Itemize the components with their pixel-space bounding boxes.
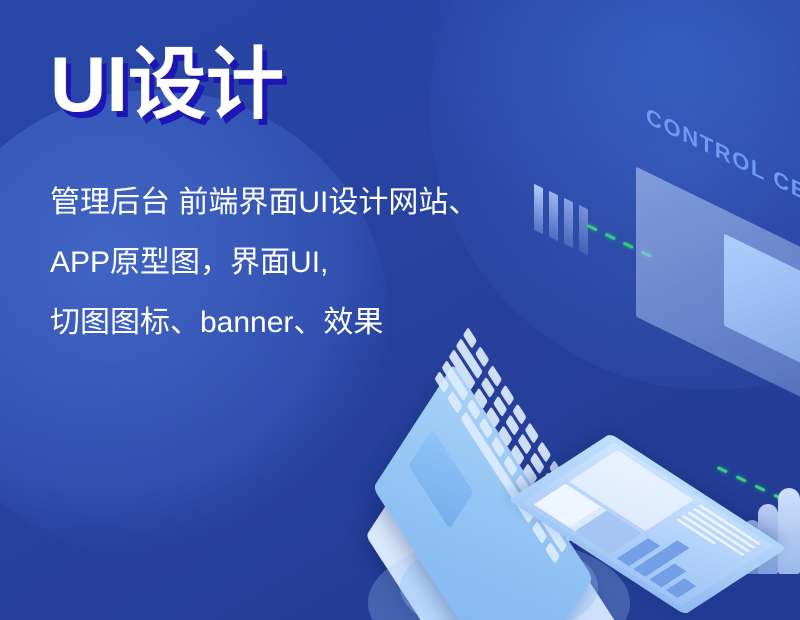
subcopy-line-1: 管理后台 前端界面UI设计网站、 [50, 173, 478, 233]
laptop-scene [330, 290, 800, 620]
ui-design-banner: UI设计 管理后台 前端界面UI设计网站、 APP原型图，界面UI, 切图图标、… [0, 0, 800, 620]
subcopy-line-2: APP原型图，界面UI, [50, 233, 478, 293]
page-title: UI设计 [50, 38, 284, 130]
